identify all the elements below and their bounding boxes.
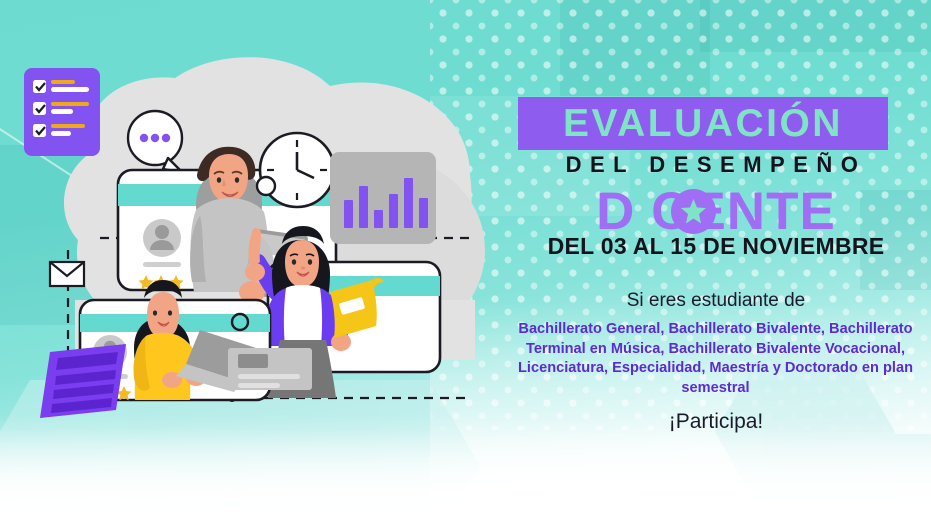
programs-text: Bachillerato General, Bachillerato Bival… [500, 320, 931, 398]
gray-doc-card [228, 348, 312, 390]
docente-text: D CENTE [510, 186, 922, 238]
headline-text: EVALUACIÓN [518, 97, 888, 150]
intro-line-text: Si eres estudiante de [510, 290, 922, 312]
text-column: EVALUACIÓN DEL DESEMPEÑO D CENTE DEL 03 … [500, 0, 931, 524]
bar-chart-icon [330, 152, 436, 244]
star-circle-letter-o [671, 189, 716, 234]
checklist-card [24, 68, 100, 156]
purple-document [40, 344, 126, 418]
envelope-icon [50, 262, 84, 286]
call-to-action-text: ¡Participa! [510, 410, 922, 434]
star-icon [680, 198, 707, 225]
poster-canvas: EVALUACIÓN DEL DESEMPEÑO D CENTE DEL 03 … [0, 0, 931, 524]
docente-wordmark: D CENTE [510, 186, 922, 238]
illustration-group [0, 0, 520, 440]
dates-text: DEL 03 AL 15 DE NOVIEMBRE [510, 233, 922, 260]
headline-band: EVALUACIÓN [518, 97, 888, 150]
subtitle-text: DEL DESEMPEÑO [510, 152, 922, 178]
